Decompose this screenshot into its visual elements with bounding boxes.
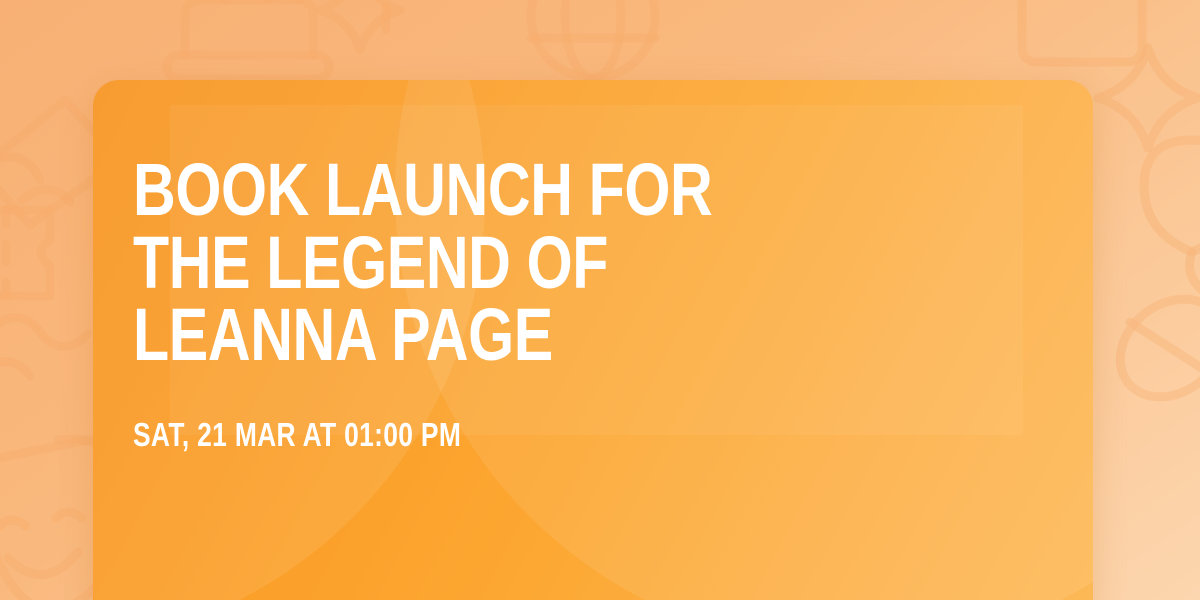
event-text-block: Book Launch for The Legend of Leanna Pag… (133, 154, 1013, 451)
event-banner: Book Launch for The Legend of Leanna Pag… (0, 0, 1200, 600)
microphone-icon (1101, 279, 1200, 592)
balloon-icon (1144, 140, 1200, 290)
event-card[interactable]: Book Launch for The Legend of Leanna Pag… (93, 80, 1093, 600)
page-title: Book Launch for The Legend of Leanna Pag… (133, 154, 837, 372)
cake-icon (167, 0, 329, 79)
event-datetime: SAT, 21 MAR AT 01:00 PM (133, 418, 837, 451)
confetti-icon (0, 317, 88, 376)
calendar-icon (1022, 0, 1142, 62)
